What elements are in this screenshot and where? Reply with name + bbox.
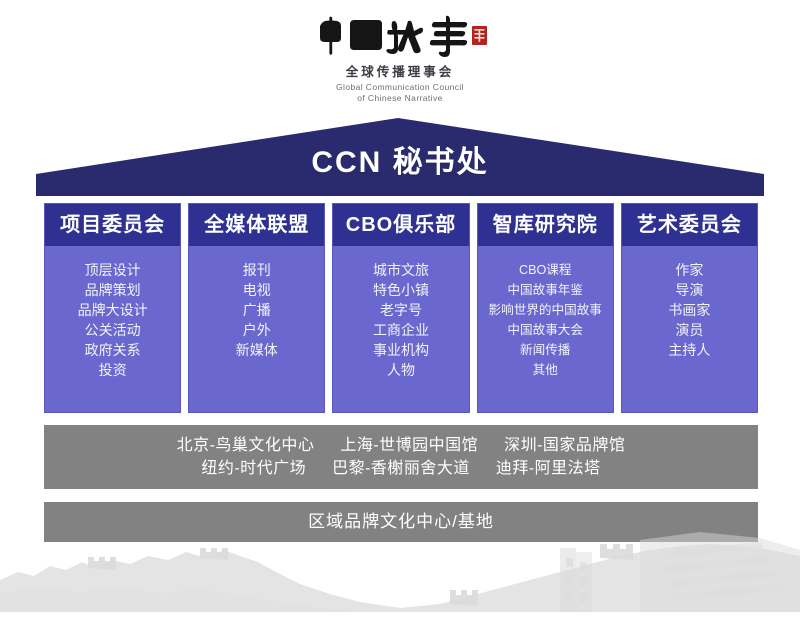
- list-item: 特色小镇: [333, 280, 468, 300]
- list-item: 广播: [189, 300, 324, 320]
- list-item: 新媒体: [189, 340, 324, 360]
- list-item: 导演: [622, 280, 757, 300]
- poster-canvas: 全球传播理事会 Global Communication Council of …: [0, 0, 800, 612]
- calligraphy-logo-icon: [0, 14, 800, 58]
- roof-title: CCN 秘书处: [0, 145, 800, 181]
- foundation-bar: 区域品牌文化中心/基地: [44, 502, 758, 542]
- list-item: 品牌大设计: [45, 300, 180, 320]
- list-item: 影响世界的中国故事: [478, 300, 613, 320]
- pillar-think-tank-institute[interactable]: 智库研究院 CBO课程 中国故事年鉴 影响世界的中国故事 中国故事大会 新闻传播…: [477, 203, 614, 413]
- list-item: 顶层设计: [45, 260, 180, 280]
- list-item: 主持人: [622, 340, 757, 360]
- list-item: 其他: [478, 360, 613, 380]
- location-item: 上海-世博园中国馆: [340, 437, 478, 454]
- pillar-columns: 项目委员会 顶层设计 品牌策划 品牌大设计 公关活动 政府关系 投资 全媒体联盟…: [44, 203, 758, 413]
- list-item: 人物: [333, 360, 468, 380]
- pillar-title: 项目委员会: [45, 204, 180, 246]
- location-item: 迪拜-阿里法塔: [496, 460, 601, 477]
- pillar-item-list: 顶层设计 品牌策划 品牌大设计 公关活动 政府关系 投资: [45, 246, 180, 412]
- list-item: 工商企业: [333, 320, 468, 340]
- pillar-item-list: 报刊 电视 广播 户外 新媒体: [189, 246, 324, 412]
- pillar-all-media-alliance[interactable]: 全媒体联盟 报刊 电视 广播 户外 新媒体: [188, 203, 325, 413]
- pillar-item-list: CBO课程 中国故事年鉴 影响世界的中国故事 中国故事大会 新闻传播 其他: [478, 246, 613, 412]
- logo-english-line-1: Global Communication Council: [0, 82, 800, 93]
- list-item: 书画家: [622, 300, 757, 320]
- location-item: 纽约-时代广场: [201, 460, 306, 477]
- list-item: 新闻传播: [478, 340, 613, 360]
- location-item: 巴黎-香榭丽舍大道: [332, 460, 470, 477]
- list-item: 政府关系: [45, 340, 180, 360]
- list-item: 公关活动: [45, 320, 180, 340]
- list-item: CBO课程: [478, 260, 613, 280]
- pillar-item-list: 城市文旅 特色小镇 老字号 工商企业 事业机构 人物: [333, 246, 468, 412]
- list-item: 投资: [45, 360, 180, 380]
- pillar-title: CBO俱乐部: [333, 204, 468, 246]
- list-item: 户外: [189, 320, 324, 340]
- pillar-project-committee[interactable]: 项目委员会 顶层设计 品牌策划 品牌大设计 公关活动 政府关系 投资: [44, 203, 181, 413]
- location-item: 深圳-国家品牌馆: [504, 437, 625, 454]
- list-item: 电视: [189, 280, 324, 300]
- great-wall-watermark-icon: [0, 532, 800, 612]
- pillar-art-committee[interactable]: 艺术委员会 作家 导演 书画家 演员 主持人: [621, 203, 758, 413]
- list-item: 事业机构: [333, 340, 468, 360]
- brand-logo: 全球传播理事会 Global Communication Council of …: [0, 14, 800, 104]
- list-item: 品牌策划: [45, 280, 180, 300]
- locations-line-2: 纽约-时代广场 巴黎-香榭丽舍大道 迪拜-阿里法塔: [44, 457, 758, 480]
- location-item: 北京-鸟巢文化中心: [177, 437, 315, 454]
- locations-line-1: 北京-鸟巢文化中心 上海-世博园中国馆 深圳-国家品牌馆: [44, 434, 758, 457]
- list-item: 作家: [622, 260, 757, 280]
- pillar-cbo-club[interactable]: CBO俱乐部 城市文旅 特色小镇 老字号 工商企业 事业机构 人物: [332, 203, 469, 413]
- logo-chinese-subtitle: 全球传播理事会: [0, 61, 800, 80]
- pillar-title: 艺术委员会: [622, 204, 757, 246]
- list-item: 报刊: [189, 260, 324, 280]
- pillar-item-list: 作家 导演 书画家 演员 主持人: [622, 246, 757, 412]
- list-item: 中国故事年鉴: [478, 280, 613, 300]
- list-item: 城市文旅: [333, 260, 468, 280]
- pillar-title: 全媒体联盟: [189, 204, 324, 246]
- logo-english-line-2: of Chinese Narrative: [0, 93, 800, 104]
- list-item: 演员: [622, 320, 757, 340]
- list-item: 中国故事大会: [478, 320, 613, 340]
- locations-bar: 北京-鸟巢文化中心 上海-世博园中国馆 深圳-国家品牌馆 纽约-时代广场 巴黎-…: [44, 425, 758, 489]
- pillar-title: 智库研究院: [478, 204, 613, 246]
- list-item: 老字号: [333, 300, 468, 320]
